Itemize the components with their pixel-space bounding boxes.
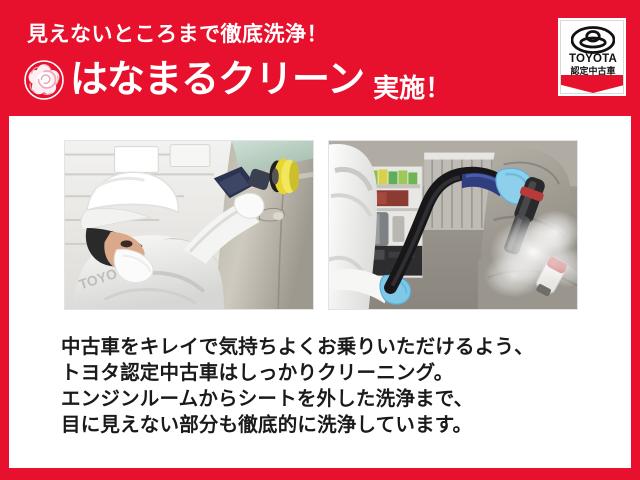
toyota-certified-badge: TOYOTA 認定中古車 xyxy=(558,18,626,96)
hanamaru-clean-banner: 見えないところまで徹底洗浄！ xyxy=(0,0,640,480)
toyota-wordmark: TOYOTA xyxy=(561,54,624,66)
brand-lockup: はなまるクリーン 実施！ xyxy=(24,56,451,104)
copy-line-1: 中古車をキレイで気持ちよくお乗りいただけるよう、 xyxy=(61,334,601,360)
copy-line-4: 目に見えない部分も徹底的に洗浄しています。 xyxy=(61,412,601,438)
body-copy: 中古車をキレイで気持ちよくお乗りいただけるよう、 トヨタ認定中古車はしっかりクリ… xyxy=(61,334,601,438)
photo-interior-steam-cleaning xyxy=(328,140,578,310)
brand-name-text: はなまるクリーン xyxy=(70,61,364,99)
content-card: TOYOTA xyxy=(9,116,631,468)
hanamaru-flower-icon xyxy=(24,60,64,100)
copy-line-2: トヨタ認定中古車はしっかりクリーニング。 xyxy=(61,360,601,386)
toyota-badge-subtitle: 認定中古車 xyxy=(561,67,624,76)
photo-gallery: TOYOTA xyxy=(64,140,579,310)
badge-chevron-shape xyxy=(561,75,624,93)
badge-inner: TOYOTA 認定中古車 xyxy=(560,20,624,94)
toyota-emblem-icon xyxy=(571,26,615,54)
copy-line-3: エンジンルームからシートを外した洗浄まで、 xyxy=(61,386,601,412)
banner-header: 見えないところまで徹底洗浄！ xyxy=(0,0,640,113)
headline-text: 見えないところまで徹底洗浄！ xyxy=(27,24,328,45)
brand-suffix-text: 実施！ xyxy=(373,75,451,104)
photo-exterior-polishing: TOYOTA xyxy=(64,140,314,310)
